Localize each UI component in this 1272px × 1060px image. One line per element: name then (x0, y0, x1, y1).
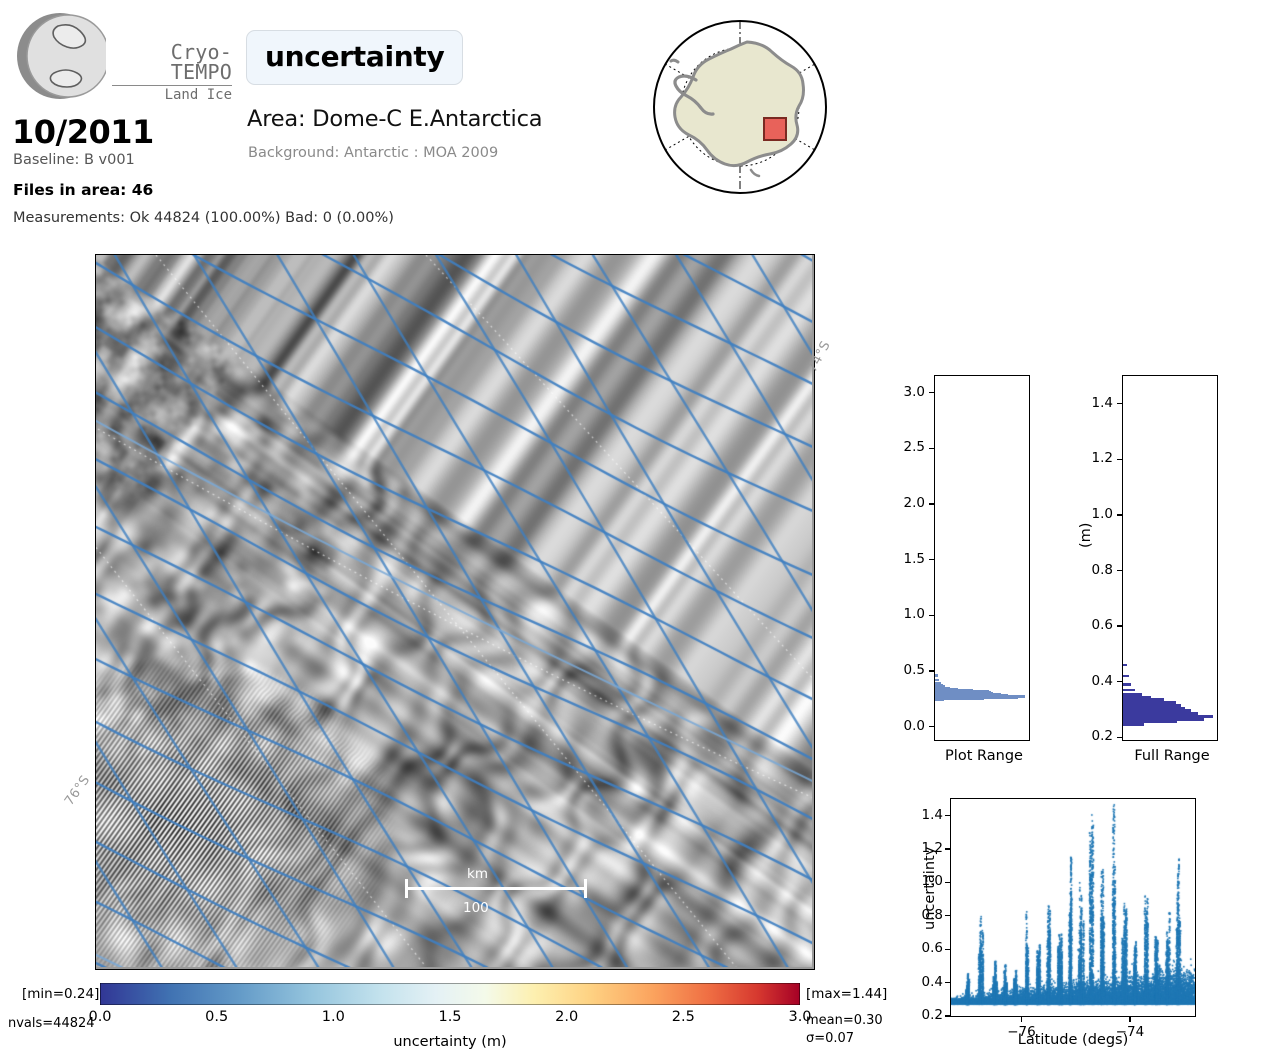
axis-tick-label: 1.4 (1071, 395, 1113, 411)
brand-logo: Cryo-TEMPO Land Ice (14, 10, 229, 105)
colorbar-tick: 0.5 (205, 1009, 228, 1025)
histogram-bar (935, 684, 943, 686)
histogram-bar (1123, 709, 1191, 712)
background-title: Background: Antarctic : MOA 2009 (248, 145, 498, 161)
axis-tick (929, 559, 935, 560)
globe-antarctica-icon (14, 10, 106, 102)
baseline-label: Baseline: B v001 (13, 152, 135, 168)
histogram-bar (1123, 689, 1135, 692)
axis-tick (945, 1015, 951, 1016)
measurements-label: Measurements: Ok 44824 (100.00%) Bad: 0 … (13, 210, 394, 226)
histogram-bar (1123, 707, 1185, 710)
histogram-bar (1123, 696, 1151, 699)
antarctica-locator-map (651, 18, 829, 196)
axis-tick (945, 882, 951, 883)
uncertainty-vs-latitude-scatter[interactable]: 0.20.40.60.81.01.21.4−76−74 (950, 798, 1196, 1017)
brand-divider (112, 85, 232, 86)
histogram-bar (1123, 701, 1176, 704)
histogram-bar (935, 679, 939, 681)
histogram-bar (1123, 715, 1213, 718)
axis-tick (945, 949, 951, 950)
axis-tick-label: 0.4 (901, 974, 943, 990)
axis-tick (929, 448, 935, 449)
histogram-bar (1123, 675, 1129, 678)
histogram-bar (1123, 721, 1177, 724)
axis-tick-label: 1.0 (1071, 506, 1113, 522)
full-range-title: Full Range (1130, 748, 1214, 764)
axis-tick (1117, 737, 1123, 738)
axis-tick (945, 848, 951, 849)
colorbar-mean-label: mean=0.30 (806, 1013, 883, 1028)
scalebar-line (405, 887, 587, 890)
colorbar-tick: 2.0 (555, 1009, 578, 1025)
colorbar-tick: 2.5 (672, 1009, 695, 1025)
colorbar-min-label: [min=0.24] (22, 986, 99, 1002)
histogram-bar (1123, 723, 1144, 726)
histogram-bar (1123, 664, 1127, 667)
histogram-bar (1123, 693, 1142, 696)
colorbar-ticks: 0.00.51.01.52.02.53.0 (100, 1009, 800, 1027)
axis-tick (929, 670, 935, 671)
axis-tick (929, 392, 935, 393)
colorbar-tick: 1.5 (438, 1009, 461, 1025)
axis-tick-label: 0.4 (1071, 673, 1113, 689)
full-range-histogram[interactable]: 0.20.40.60.81.01.21.4 (1122, 375, 1218, 741)
histogram-bar (1123, 712, 1198, 715)
full-range-ylabel: (m) (1078, 523, 1094, 548)
colorbar-nvals-label: nvals=44824 (8, 1016, 95, 1031)
axis-tick-label: 0.6 (1071, 617, 1113, 633)
axis-tick (945, 915, 951, 916)
map-raster (96, 255, 812, 967)
axis-tick-label: 3.0 (883, 384, 925, 400)
area-title: Area: Dome-C E.Antarctica (247, 106, 542, 132)
axis-tick (945, 982, 951, 983)
axis-tick (1117, 459, 1123, 460)
brand-name: Cryo-TEMPO (112, 42, 232, 82)
axis-tick (1129, 1016, 1130, 1022)
axis-tick-label: 0.2 (1071, 728, 1113, 744)
histogram-bar (1123, 704, 1181, 707)
parameter-badge: uncertainty (246, 30, 463, 85)
colorbar-gradient[interactable] (100, 983, 800, 1005)
axis-tick (1117, 403, 1123, 404)
axis-tick-label: 1.0 (883, 606, 925, 622)
date-label: 10/2011 (12, 113, 154, 151)
axis-tick-label: 0.0 (883, 718, 925, 734)
axis-tick-label: 0.6 (901, 940, 943, 956)
plot-range-title: Plot Range (942, 748, 1026, 764)
axis-tick-label: 1.5 (883, 551, 925, 567)
axis-tick-label: 2.0 (883, 495, 925, 511)
histogram-bar (1123, 698, 1164, 701)
files-in-area-label: Files in area: 46 (13, 181, 153, 199)
histogram-bar (935, 682, 941, 684)
colorbar-tick: 1.0 (322, 1009, 345, 1025)
scatter-xlabel: Latitude (degs) (1018, 1032, 1129, 1048)
scalebar-unit: km (467, 866, 488, 882)
colorbar-axis-label: uncertainty (m) (393, 1034, 506, 1050)
axis-tick (929, 503, 935, 504)
axis-tick (1021, 1016, 1022, 1022)
plot-range-histogram[interactable]: 0.00.51.01.52.02.53.0 (934, 375, 1030, 741)
scalebar-value: 100 (463, 900, 489, 916)
scatter-ylabel: uncertainty (922, 847, 938, 930)
main-map[interactable] (95, 254, 815, 970)
axis-tick (945, 815, 951, 816)
scatter-points (951, 799, 1195, 1016)
colorbar-sigma-label: σ=0.07 (806, 1031, 854, 1046)
colorbar-max-label: [max=1.44] (806, 986, 887, 1002)
axis-tick-label: 0.2 (901, 1007, 943, 1023)
axis-tick-label: 1.4 (901, 807, 943, 823)
area-highlight-box (764, 118, 786, 140)
brand-subtitle: Land Ice (112, 88, 232, 102)
axis-tick-label: 1.2 (1071, 450, 1113, 466)
latitude-label-76s: 76°S (62, 773, 93, 809)
axis-tick (929, 726, 935, 727)
axis-tick-label: 0.5 (883, 662, 925, 678)
axis-tick-label: 2.5 (883, 439, 925, 455)
colorbar-tick: 3.0 (788, 1009, 811, 1025)
axis-tick-label: 0.8 (1071, 562, 1113, 578)
histogram-bar (1123, 683, 1131, 686)
axis-tick (1117, 570, 1123, 571)
axis-tick (1117, 514, 1123, 515)
axis-tick (929, 615, 935, 616)
axis-tick (1117, 625, 1123, 626)
colorbar-tick: 0.0 (88, 1009, 111, 1025)
histogram-bar (1123, 718, 1204, 721)
histogram-bar (935, 674, 938, 676)
